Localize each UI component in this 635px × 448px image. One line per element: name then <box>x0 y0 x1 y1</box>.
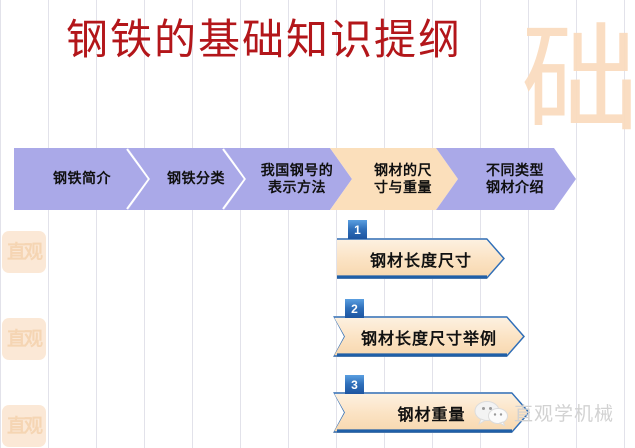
callout-badge-1: 1 <box>348 220 367 239</box>
process-step-3-label: 我国钢号的 表示方法 <box>261 162 334 196</box>
seal-stamp-decoration: 直观 <box>2 405 46 447</box>
process-step-4-label: 钢材的尺 寸与重量 <box>374 162 432 196</box>
seal-stamp-decoration: 直观 <box>2 231 46 273</box>
process-step-1[interactable]: 钢铁简介 <box>14 148 150 210</box>
process-step-5-label: 不同类型 钢材介绍 <box>486 162 544 196</box>
process-step-4-label-line2: 寸与重量 <box>374 179 432 195</box>
callout-3-label: 钢材重量 <box>397 401 465 425</box>
background-grid <box>0 0 635 448</box>
process-step-4-label-line1: 钢材的尺 <box>374 162 432 178</box>
callout-box-1[interactable]: 钢材长度尺寸 <box>337 238 505 279</box>
callout-badge-2: 2 <box>345 299 364 318</box>
slide-canvas: 础 直观 直观 直观 钢铁的基础知识提纲 钢铁简介 钢铁分类 我国钢号的 表示方… <box>0 0 635 448</box>
process-step-5-label-line2: 钢材介绍 <box>486 179 544 195</box>
process-chevron-bar: 钢铁简介 钢铁分类 我国钢号的 表示方法 钢材的尺 寸与重量 <box>14 148 622 210</box>
process-step-5-label-line1: 不同类型 <box>486 162 544 178</box>
calligraphy-seal-decoration: 础 <box>521 0 631 155</box>
callout-badge-3: 3 <box>345 375 364 394</box>
process-step-3-label-line2: 表示方法 <box>268 179 326 195</box>
process-step-2-label: 钢铁分类 <box>167 170 225 187</box>
callout-2-label: 钢材长度尺寸举例 <box>361 325 497 349</box>
callout-box-3[interactable]: 钢材重量 <box>333 392 530 433</box>
callout-box-2[interactable]: 钢材长度尺寸举例 <box>333 316 525 357</box>
callout-1-label: 钢材长度尺寸 <box>370 247 472 271</box>
seal-stamp-decoration: 直观 <box>2 318 46 360</box>
slide-title: 钢铁的基础知识提纲 <box>0 14 528 67</box>
process-step-3-label-line1: 我国钢号的 <box>261 162 334 178</box>
process-step-1-label: 钢铁简介 <box>53 170 111 187</box>
